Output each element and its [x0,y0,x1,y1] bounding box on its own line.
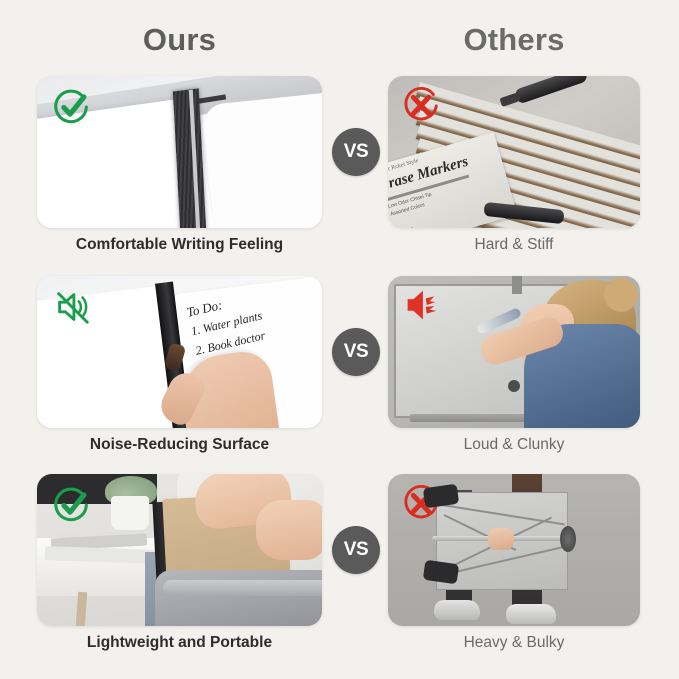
green-check-circle-icon [51,484,93,526]
comparison-row-1: VS Odor Rcket Style Erase Markers Low [0,76,679,272]
others-caption-3: Heavy & Bulky [388,632,640,654]
green-muted-speaker-icon [51,286,93,328]
column-header-others: Others [388,20,640,60]
red-loud-speaker-icon [400,284,442,326]
carrying-large-board-illustration [388,474,640,626]
ours-caption-2: Noise-Reducing Surface [37,434,322,456]
hand-illustration [488,528,514,550]
ours-image-card-3 [37,474,322,626]
vs-badge-3: VS [332,526,380,574]
vs-badge-1: VS [332,128,380,176]
package-line-3: Markers [395,226,414,228]
green-check-circle-icon [51,86,93,128]
others-image-card-1: Odor Rcket Style Erase Markers Low Odor … [388,76,640,228]
comparison-row-3: VS [0,474,679,670]
others-image-card-2 [388,276,640,428]
others-caption-1: Hard & Stiff [388,234,640,256]
comparison-infographic: Ours Others VS [0,0,679,679]
ours-caption-3: Lightweight and Portable [37,632,322,654]
comparison-row-2: To Do: 1. Water plants 2. Book doctor ap… [0,276,679,472]
package-title-text: Erase Markers [388,154,470,196]
hand-illustration [256,500,322,560]
red-x-circle-icon [400,84,442,126]
marker-illustration [514,76,589,105]
vs-badge-2: VS [332,328,380,376]
ours-image-card-1 [37,76,322,228]
column-header-ours: Ours [37,20,322,60]
others-caption-2: Loud & Clunky [388,434,640,456]
ours-image-card-2: To Do: 1. Water plants 2. Book doctor ap… [37,276,322,428]
column-headers: Ours Others [0,20,679,66]
ours-caption-1: Comfortable Writing Feeling [37,234,322,256]
others-image-card-3 [388,474,640,626]
carry-sleeve-illustration [155,570,322,626]
